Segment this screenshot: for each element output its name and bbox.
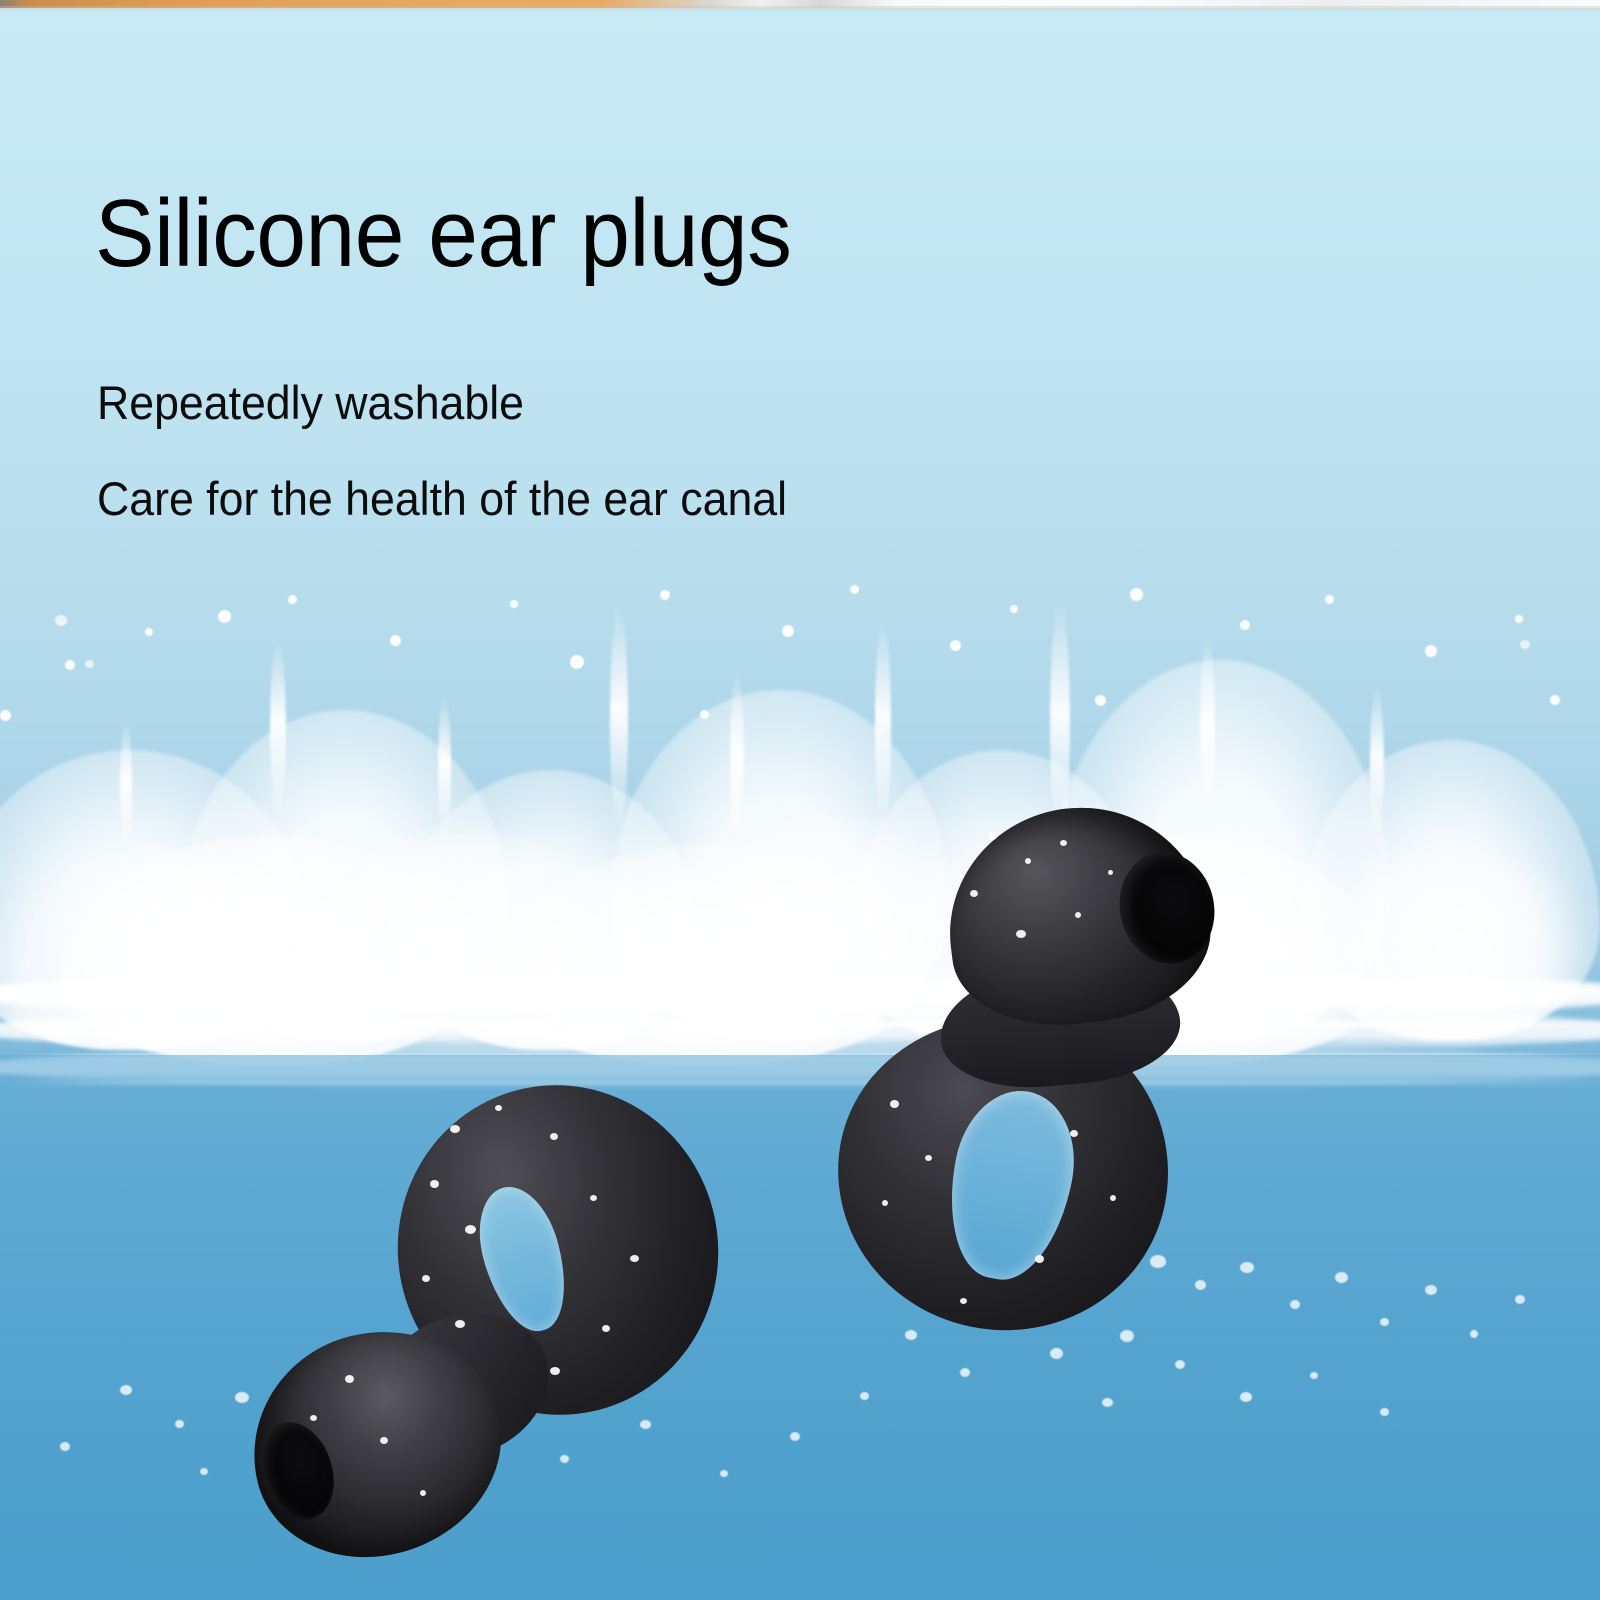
top-edge-artifact-fade <box>0 6 1600 12</box>
product-poster: Silicone ear plugs Repeatedly washable C… <box>0 0 1600 1600</box>
subtitle-line-1: Repeatedly washable <box>97 379 524 426</box>
page-title: Silicone ear plugs <box>95 186 791 282</box>
subtitle-line-2: Care for the health of the ear canal <box>97 475 787 522</box>
